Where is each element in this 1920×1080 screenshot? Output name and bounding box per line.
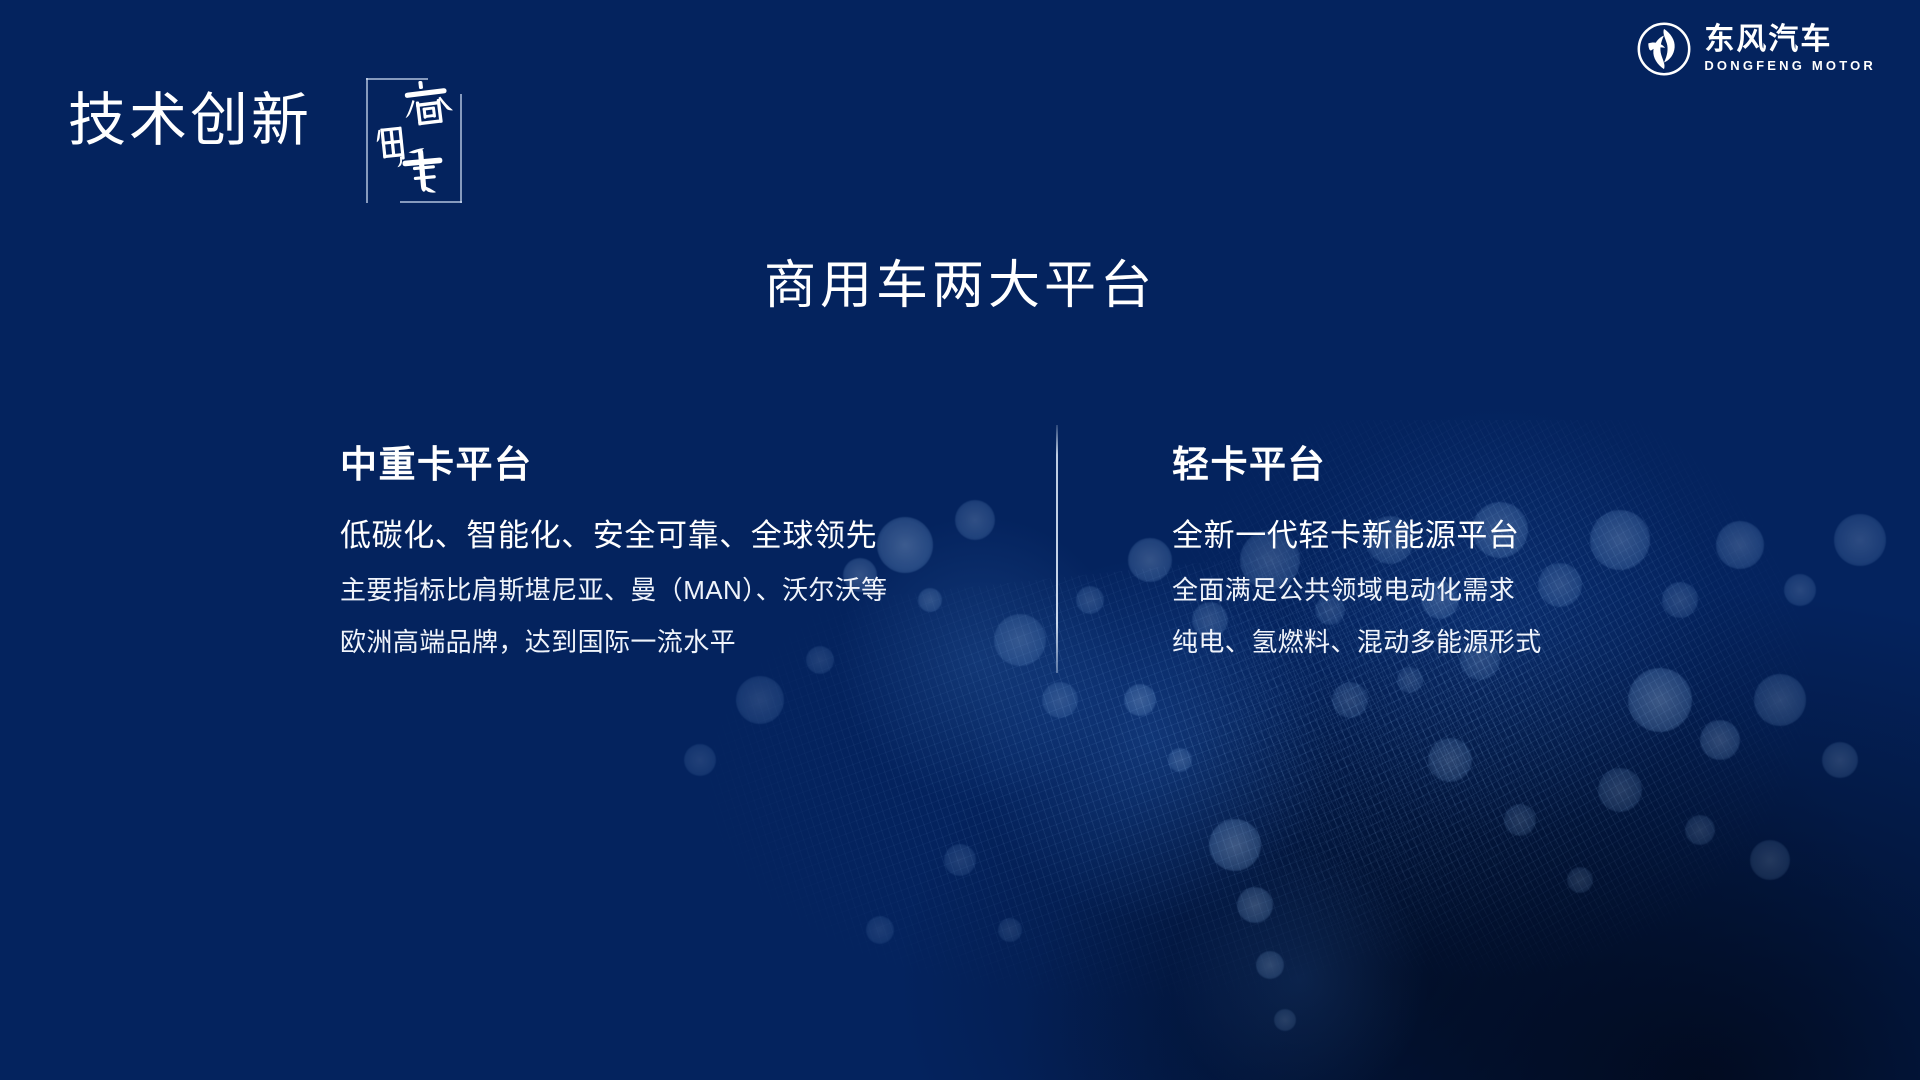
seal-frame-bottom — [400, 201, 462, 203]
seal-calligraphy-icon — [372, 74, 462, 200]
dongfeng-emblem-icon — [1636, 21, 1692, 77]
seal-frame-left — [366, 78, 368, 203]
column-divider — [1056, 425, 1058, 673]
platform-lead-line: 全新一代轻卡新能源平台 — [1172, 518, 1792, 554]
platform-column-medium-heavy-truck: 中重卡平台 低碳化、智能化、安全可靠、全球领先 主要指标比肩斯堪尼亚、曼（MAN… — [340, 430, 1000, 657]
platform-lead-line: 低碳化、智能化、安全可靠、全球领先 — [340, 518, 1000, 554]
platform-detail-line: 主要指标比肩斯堪尼亚、曼（MAN）、沃尔沃等 — [340, 576, 1000, 606]
platform-detail-line: 欧洲高端品牌，达到国际一流水平 — [340, 628, 1000, 658]
commercial-vehicle-seal — [366, 68, 462, 203]
page-title: 商用车两大平台 — [0, 243, 1920, 318]
platform-heading: 中重卡平台 — [340, 430, 1000, 483]
brand-name-en: DONGFENG MOTOR — [1704, 58, 1876, 74]
platform-heading: 轻卡平台 — [1172, 430, 1792, 483]
slide-root: 技术创新 — [0, 0, 1920, 1080]
brand-name-cn: 东风汽车 — [1704, 24, 1876, 56]
brand-logo: 东风汽车 DONGFENG MOTOR — [1636, 20, 1876, 78]
brand-wordmark: 东风汽车 DONGFENG MOTOR — [1704, 24, 1876, 74]
section-title: 技术创新 — [68, 92, 312, 150]
platform-detail-line: 全面满足公共领域电动化需求 — [1172, 576, 1792, 606]
platform-column-light-truck: 轻卡平台 全新一代轻卡新能源平台 全面满足公共领域电动化需求 纯电、氢燃料、混动… — [1172, 430, 1792, 657]
platform-columns: 中重卡平台 低碳化、智能化、安全可靠、全球领先 主要指标比肩斯堪尼亚、曼（MAN… — [0, 430, 1920, 730]
platform-detail-line: 纯电、氢燃料、混动多能源形式 — [1172, 628, 1792, 658]
